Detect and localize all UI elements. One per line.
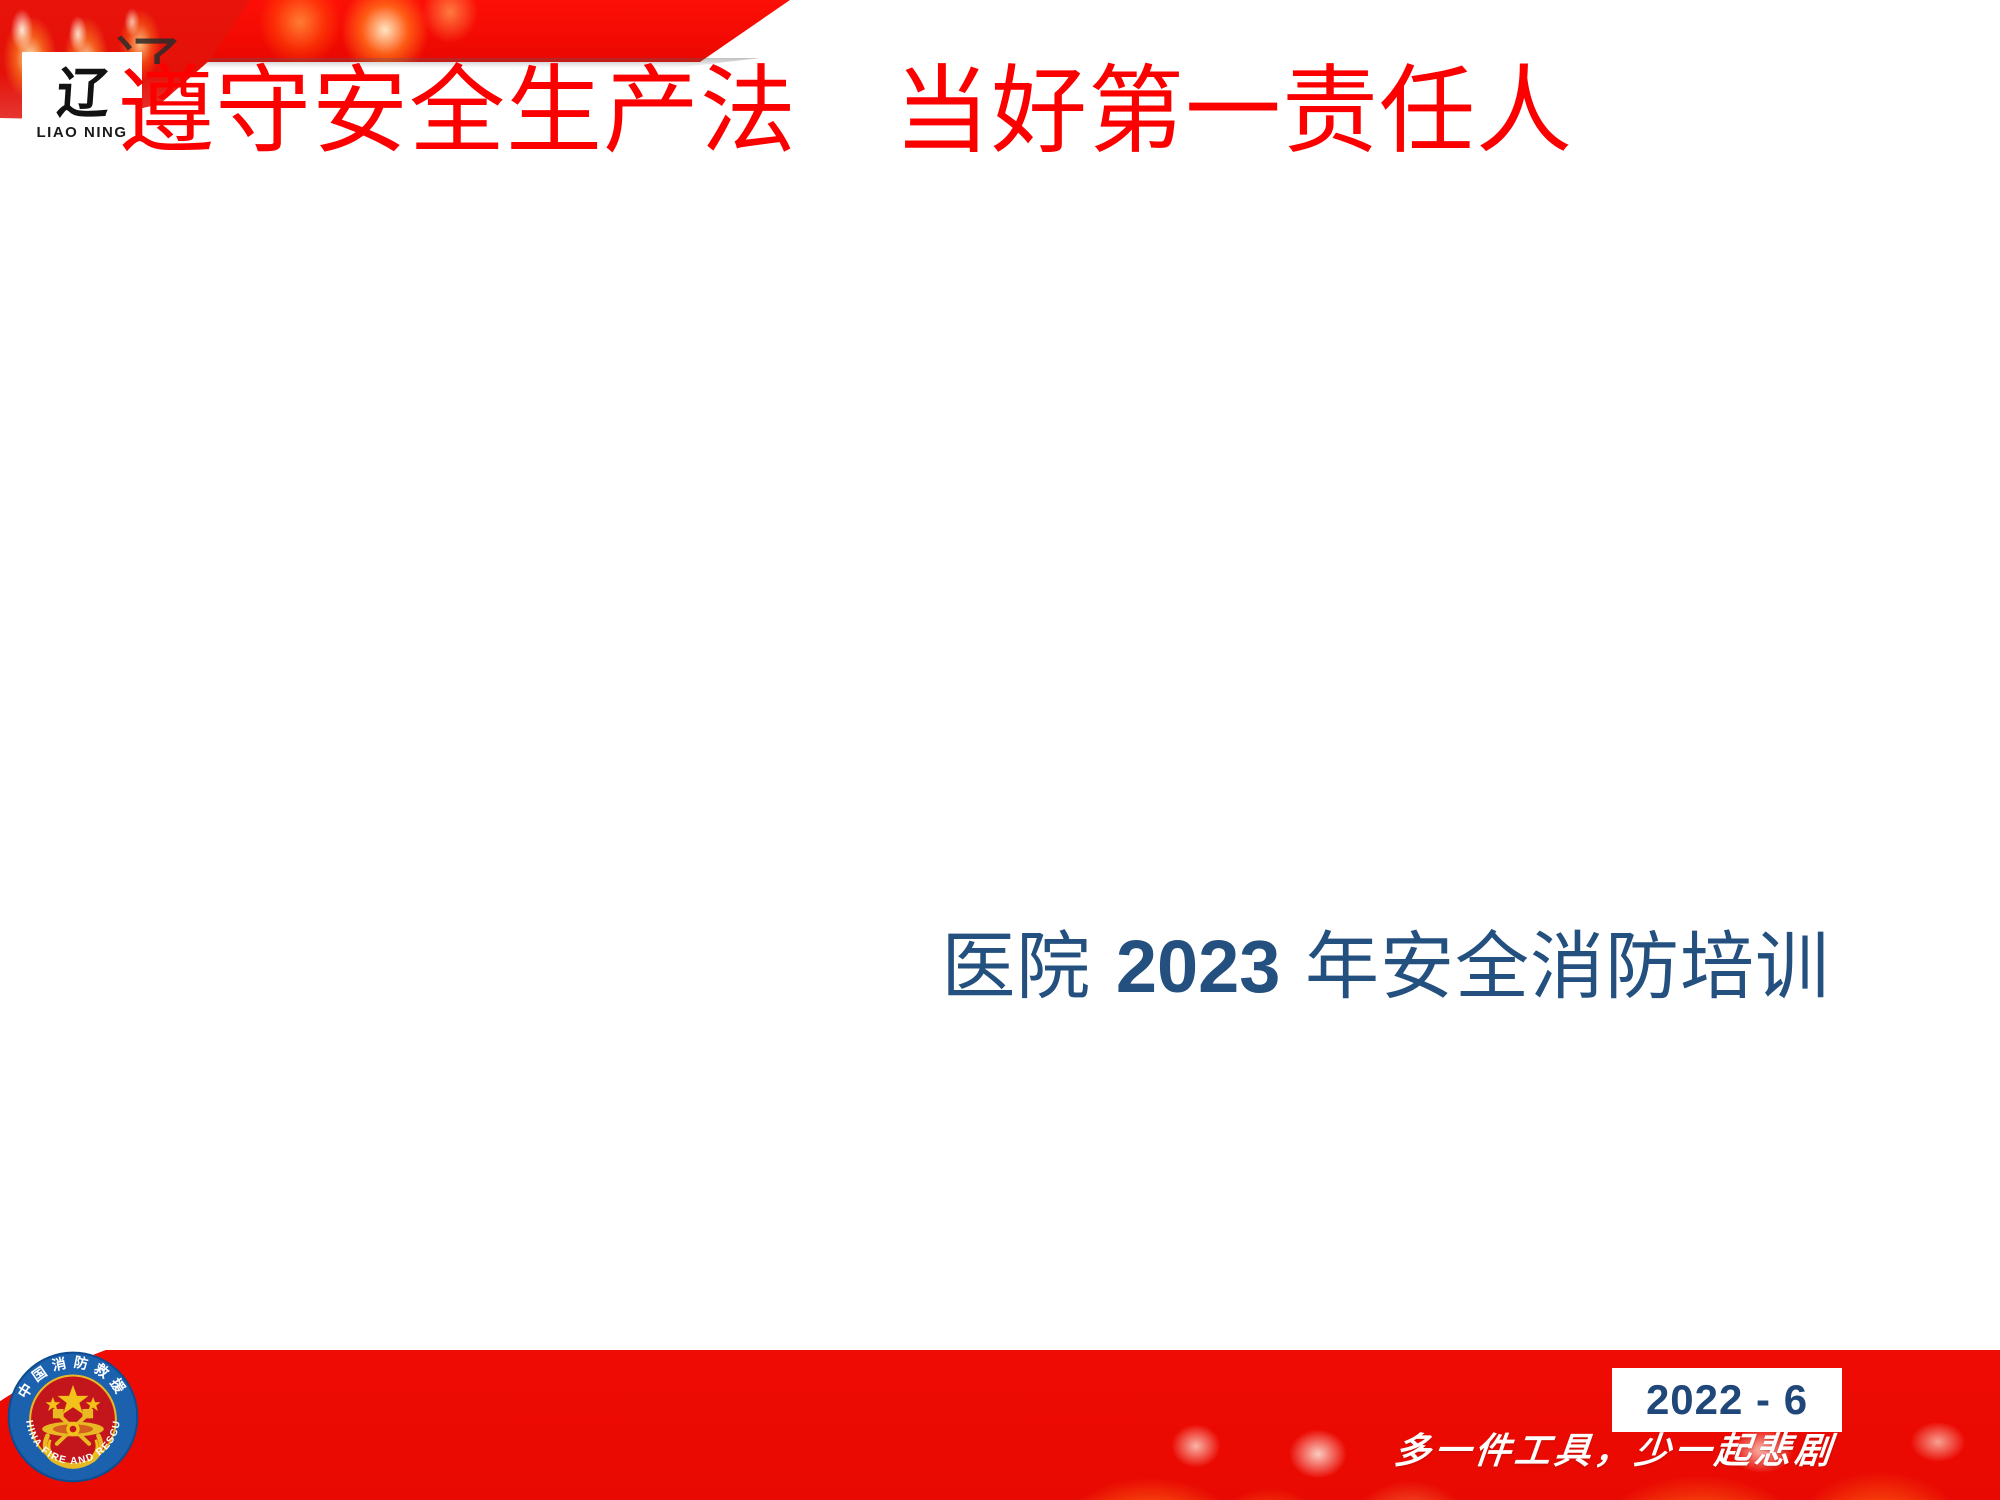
presentation-slide: 辽 辽 LIAO NING 遵守安全生产法 当好第一责任人 医院 2023 年安…: [0, 0, 2000, 1500]
liaoning-logo-glyph: 辽: [55, 66, 109, 121]
slide-subtitle: 医院 2023 年安全消防培训: [210, 920, 1830, 1015]
china-fire-rescue-emblem: 中国消防救援 CHINA FIRE AND RESCUE: [6, 1350, 140, 1484]
subtitle-year: 2023: [1116, 925, 1281, 1008]
date-box: 2022 - 6: [1612, 1368, 1842, 1432]
slide-date: 2022 - 6: [1646, 1376, 1808, 1424]
slide-main-title: 遵守安全生产法 当好第一责任人: [118, 60, 1918, 164]
emblem-icon: 中国消防救援 CHINA FIRE AND RESCUE: [6, 1350, 140, 1484]
subtitle-prefix: 医院: [941, 924, 1116, 1010]
subtitle-suffix: 年安全消防培训: [1280, 924, 1830, 1010]
